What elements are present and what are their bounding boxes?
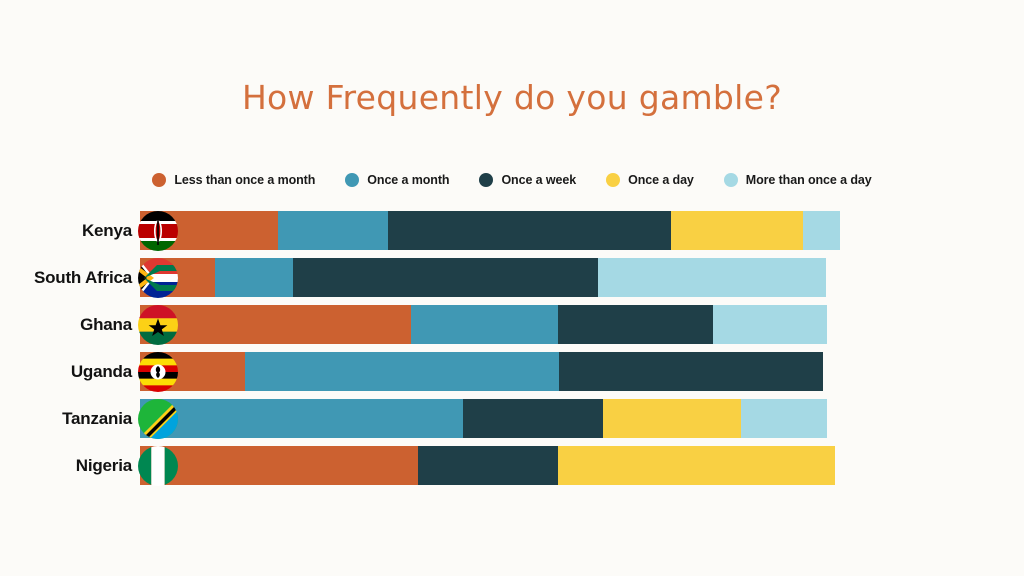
bar-segment[interactable] <box>418 446 558 485</box>
legend-item[interactable]: Once a month <box>345 173 449 187</box>
stacked-bar[interactable] <box>140 399 827 438</box>
row-label-south-africa: South Africa <box>0 268 140 288</box>
bar-segment[interactable] <box>559 352 823 391</box>
bar-track <box>140 258 994 297</box>
chart-title: How Frequently do you gamble? <box>0 78 1024 117</box>
bar-segment[interactable] <box>463 399 603 438</box>
row-label-uganda: Uganda <box>0 362 140 382</box>
legend-item-label: Once a day <box>628 173 694 187</box>
bar-track <box>140 305 994 344</box>
legend-item-label: Less than once a month <box>174 173 315 187</box>
chart-row: Uganda <box>0 348 1024 395</box>
chart-row: Ghana <box>0 301 1024 348</box>
circle-swatch-icon <box>345 173 359 187</box>
chart-plot-area: KenyaSouth AfricaGhanaUgandaTanzaniaNige… <box>0 207 1024 489</box>
bar-segment[interactable] <box>603 399 741 438</box>
bar-segment[interactable] <box>245 352 559 391</box>
bar-segment[interactable] <box>140 305 411 344</box>
row-label-nigeria: Nigeria <box>0 456 140 476</box>
bar-segment[interactable] <box>558 446 835 485</box>
bar-segment[interactable] <box>278 211 388 250</box>
chart-row: Kenya <box>0 207 1024 254</box>
bar-segment[interactable] <box>293 258 598 297</box>
legend-item-label: More than once a day <box>746 173 872 187</box>
circle-swatch-icon <box>724 173 738 187</box>
legend-item-label: Once a week <box>501 173 576 187</box>
bar-segment[interactable] <box>140 258 215 297</box>
legend-item[interactable]: Less than once a month <box>152 173 315 187</box>
row-label-kenya: Kenya <box>0 221 140 241</box>
bar-segment[interactable] <box>598 258 826 297</box>
legend-item[interactable]: Once a week <box>479 173 576 187</box>
bar-segment[interactable] <box>803 211 840 250</box>
chart-row: South Africa <box>0 254 1024 301</box>
bar-track <box>140 399 994 438</box>
bar-segment[interactable] <box>140 211 278 250</box>
bar-segment[interactable] <box>741 399 828 438</box>
legend-item[interactable]: More than once a day <box>724 173 872 187</box>
bar-segment[interactable] <box>558 305 713 344</box>
row-label-tanzania: Tanzania <box>0 409 140 429</box>
chart-legend: Less than once a monthOnce a monthOnce a… <box>0 173 1024 187</box>
chart-row: Tanzania <box>0 395 1024 442</box>
circle-swatch-icon <box>152 173 166 187</box>
legend-item-label: Once a month <box>367 173 449 187</box>
bar-track <box>140 211 994 250</box>
bar-track <box>140 446 994 485</box>
row-label-ghana: Ghana <box>0 315 140 335</box>
bar-segment[interactable] <box>140 399 463 438</box>
circle-swatch-icon <box>479 173 493 187</box>
chart-row: Nigeria <box>0 442 1024 489</box>
stacked-bar[interactable] <box>140 258 826 297</box>
legend-item[interactable]: Once a day <box>606 173 694 187</box>
stacked-bar[interactable] <box>140 305 827 344</box>
bar-segment[interactable] <box>140 352 245 391</box>
bar-segment[interactable] <box>671 211 803 250</box>
chart-container: How Frequently do you gamble? Less than … <box>0 0 1024 576</box>
bar-track <box>140 352 994 391</box>
bar-segment[interactable] <box>411 305 558 344</box>
circle-swatch-icon <box>606 173 620 187</box>
bar-segment[interactable] <box>140 446 418 485</box>
bar-segment[interactable] <box>215 258 293 297</box>
bar-segment[interactable] <box>713 305 828 344</box>
stacked-bar[interactable] <box>140 352 823 391</box>
bar-segment[interactable] <box>388 211 671 250</box>
stacked-bar[interactable] <box>140 446 835 485</box>
stacked-bar[interactable] <box>140 211 840 250</box>
